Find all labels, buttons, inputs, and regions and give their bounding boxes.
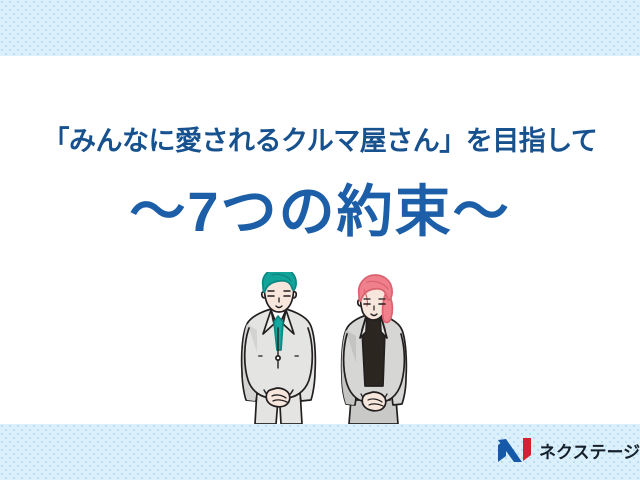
staff-illustration-svg bbox=[232, 272, 422, 428]
male-staff-figure bbox=[242, 272, 316, 424]
promise-banner: 「みんなに愛されるクルマ屋さん」を目指して ～7つの約束～ bbox=[0, 0, 640, 480]
female-staff-figure bbox=[342, 275, 407, 424]
headline-secondary: ～7つの約束～ bbox=[0, 180, 640, 244]
staff-illustration bbox=[232, 272, 422, 428]
headline-primary: 「みんなに愛されるクルマ屋さん」を目指して bbox=[0, 124, 640, 158]
nextage-n-mark-icon bbox=[497, 438, 533, 463]
brand-logo: ネクステージ bbox=[497, 438, 640, 463]
top-dotted-band bbox=[0, 0, 640, 56]
brand-name: ネクステージ bbox=[539, 438, 640, 463]
